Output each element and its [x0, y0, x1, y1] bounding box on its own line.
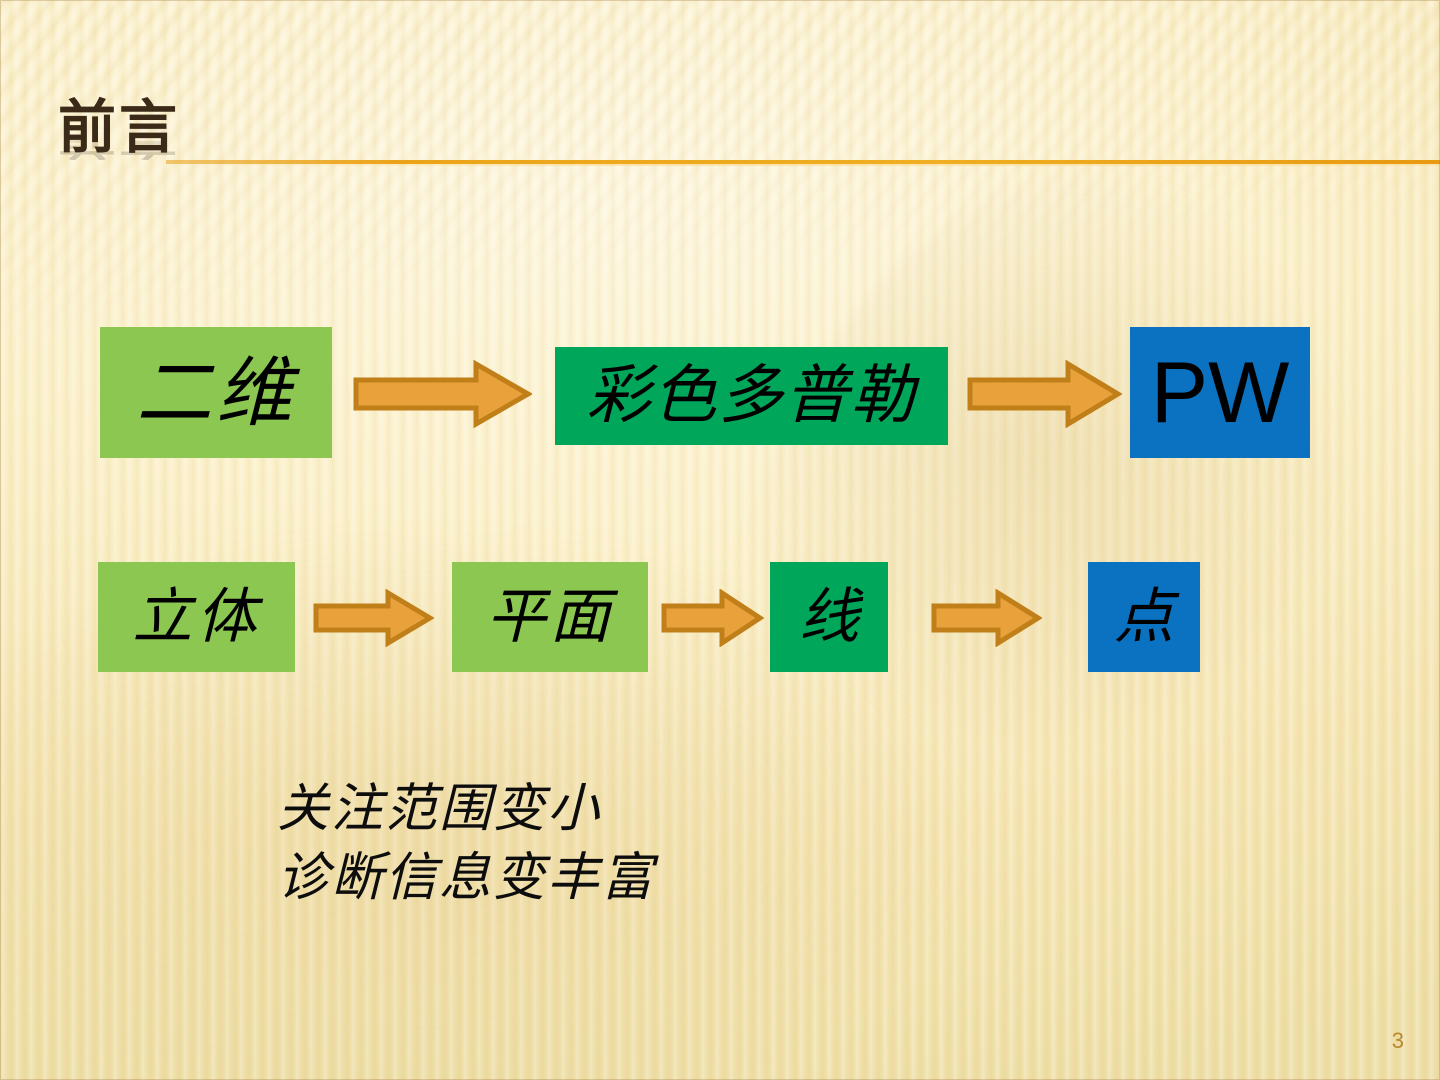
page-number: 3	[1392, 1028, 1404, 1054]
flow-node-label: 立体	[133, 587, 261, 647]
flow-row-1: 二维 彩色多普勒 PW	[0, 300, 1440, 490]
arrow-right-icon	[660, 589, 764, 647]
flow-node-point[interactable]: 点	[1088, 562, 1200, 672]
slide-title-group: 前言 前言	[58, 98, 388, 198]
flow-node-plane[interactable]: 平面	[452, 562, 648, 672]
flow-node-label: 彩色多普勒	[587, 364, 917, 428]
slide-canvas: 前言 前言 二维 彩色多普勒 PW 立体	[0, 0, 1440, 1080]
flow-node-line[interactable]: 线	[770, 562, 888, 672]
arrow-right-icon	[352, 360, 532, 428]
arrow-right-icon	[312, 589, 434, 647]
flow-node-pw[interactable]: PW	[1130, 327, 1310, 458]
flow-node-2d[interactable]: 二维	[100, 327, 332, 458]
flow-node-label: PW	[1151, 350, 1290, 436]
arrow-right-icon	[930, 589, 1042, 647]
flow-node-color-doppler[interactable]: 彩色多普勒	[555, 347, 948, 445]
flow-node-volume[interactable]: 立体	[98, 562, 295, 672]
flow-node-label: 点	[1114, 587, 1174, 647]
caption-line-1: 关注范围变小	[277, 775, 1037, 844]
flow-node-label: 二维	[136, 355, 296, 431]
arrow-right-icon	[966, 360, 1122, 428]
flow-row-2: 立体 平面 线 点	[0, 545, 1440, 695]
caption-line-2: 诊断信息变丰富	[277, 844, 1037, 913]
flow-node-label: 线	[799, 587, 859, 647]
flow-node-label: 平面	[486, 587, 614, 647]
title-underline-highlight	[166, 164, 1440, 166]
caption-block: 关注范围变小 诊断信息变丰富	[277, 775, 1037, 912]
page-title-reflection: 前言	[58, 124, 180, 160]
